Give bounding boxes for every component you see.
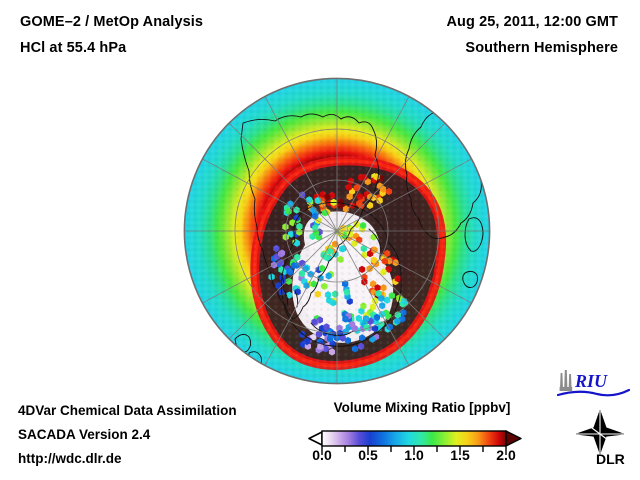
- hemisphere-label: Southern Hemisphere: [465, 40, 618, 56]
- colorbar-under-arrow: [309, 432, 322, 445]
- polar-map-svg: [183, 77, 491, 385]
- colorbar-tick-label: 2.0: [496, 447, 515, 463]
- dlr-arrow-icon: [577, 410, 623, 453]
- footer-version: SACADA Version 2.4: [18, 427, 150, 442]
- figure-canvas: GOME–2 / MetOp Analysis HCl at 55.4 hPa …: [0, 0, 640, 480]
- timestamp-label: Aug 25, 2011, 12:00 GMT: [446, 14, 618, 30]
- riu-wordmark: RIU: [574, 371, 608, 391]
- polar-map: [183, 77, 491, 385]
- colorbar-over-arrow: [506, 431, 521, 446]
- page-title-instrument: GOME–2 / MetOp Analysis: [20, 14, 203, 30]
- map-data-field: [184, 78, 490, 384]
- dlr-logo: DLR: [566, 408, 628, 466]
- riu-trident-icon: [560, 370, 573, 391]
- colorbar: Volume Mixing Ratio [ppbv] 0.00.51.01.52…: [306, 400, 538, 472]
- colorbar-tick-label: 0.0: [312, 447, 331, 463]
- page-title-species: HCl at 55.4 hPa: [20, 40, 126, 56]
- colorbar-tick-label: 1.5: [450, 447, 469, 463]
- footer-url: http://wdc.dlr.de: [18, 451, 122, 466]
- colorbar-tick-label: 1.0: [404, 447, 423, 463]
- footer-method: 4DVar Chemical Data Assimilation: [18, 403, 237, 418]
- riu-logo: RIU: [557, 369, 631, 399]
- colorbar-tick-label: 0.5: [358, 447, 377, 463]
- colorbar-gradient: [322, 431, 506, 446]
- dlr-wordmark: DLR: [596, 451, 625, 466]
- colorbar-title: Volume Mixing Ratio [ppbv]: [306, 400, 538, 415]
